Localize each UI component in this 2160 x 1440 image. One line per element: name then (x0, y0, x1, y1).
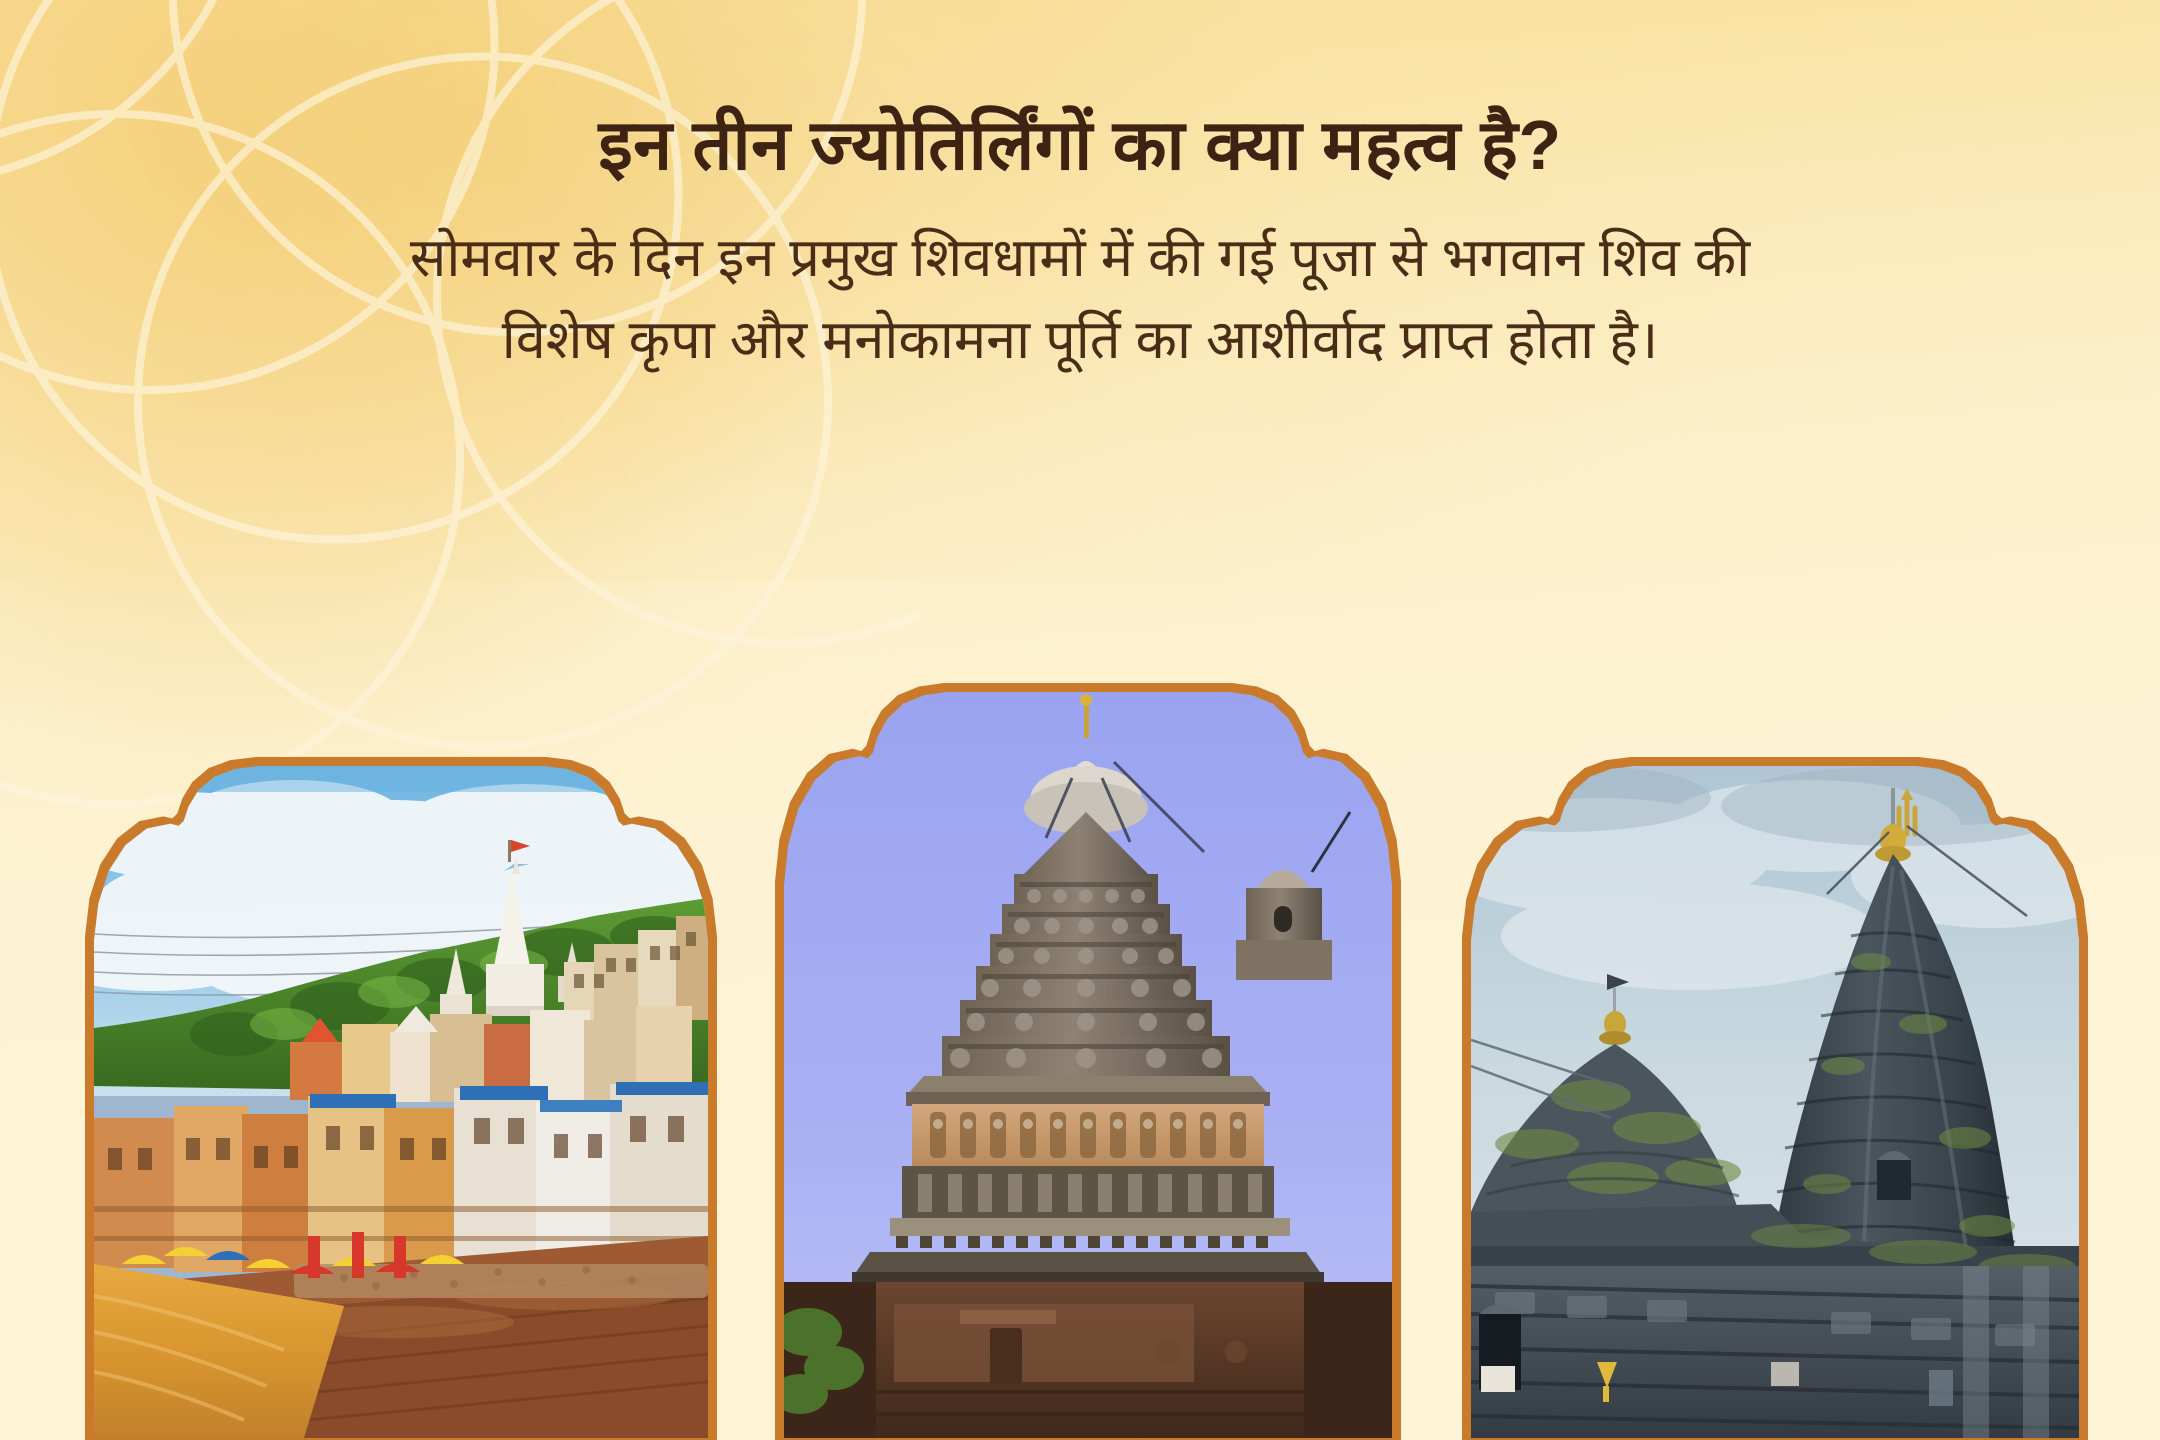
page-title: इन तीन ज्योतिर्लिंगों का क्या महत्व है? (0, 104, 2160, 187)
image-card-trimbakeshwar[interactable] (1462, 757, 2088, 1440)
page-subtitle: सोमवार के दिन इन प्रमुख शिवधामों में की … (170, 217, 1990, 381)
grishneshwar-temple-photo (784, 692, 1392, 1438)
headline-block: इन तीन ज्योतिर्लिंगों का क्या महत्व है? … (0, 0, 2160, 381)
subtitle-line-1: सोमवार के दिन इन प्रमुख शिवधामों में की … (170, 217, 1990, 299)
omkareshwar-ghat-photo (94, 766, 708, 1438)
subtitle-line-2: विशेष कृपा और मनोकामना पूर्ति का आशीर्वा… (170, 299, 1990, 381)
image-card-grishneshwar[interactable] (775, 683, 1401, 1440)
image-card-omkareshwar[interactable] (85, 757, 717, 1440)
trimbakeshwar-temple-photo (1471, 766, 2079, 1438)
infographic-canvas: इन तीन ज्योतिर्लिंगों का क्या महत्व है? … (0, 0, 2160, 1440)
